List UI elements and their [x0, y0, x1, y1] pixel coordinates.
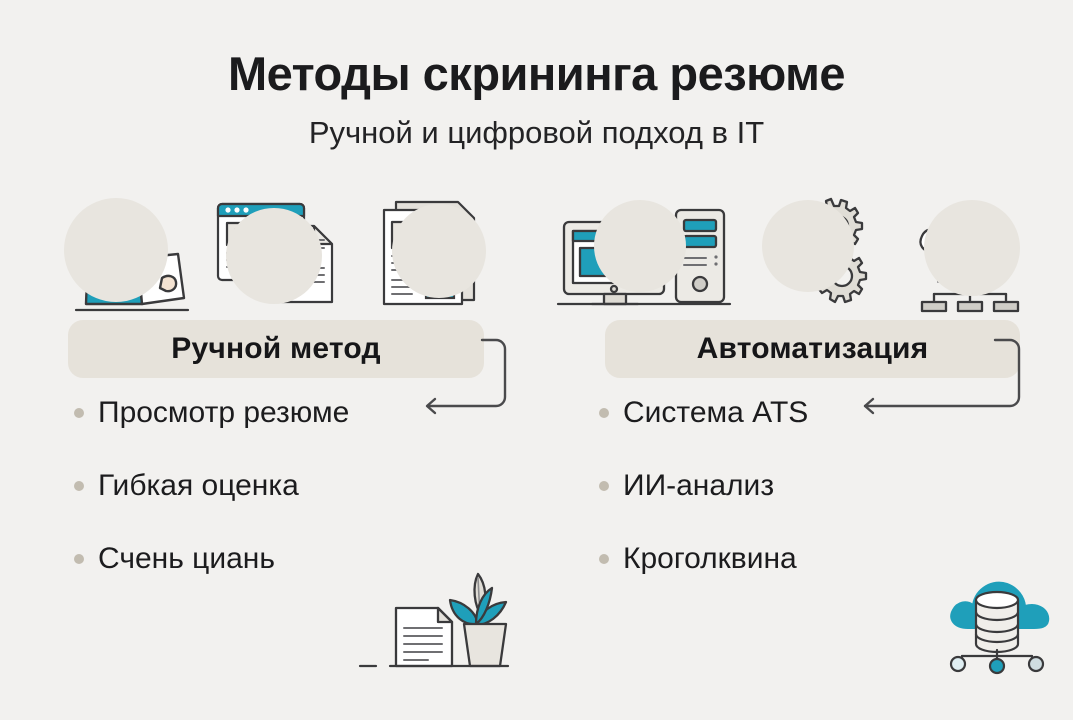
- list-item-label: Счень циань: [98, 542, 275, 576]
- list-item[interactable]: Гибкая оценка: [74, 469, 299, 503]
- decorative-blob: [924, 200, 1020, 296]
- list-item-label: Просмотр резюме: [98, 396, 349, 430]
- cloud-database-network-icon: [908, 194, 1038, 312]
- desktop-computer-tower-icon: [556, 196, 732, 312]
- cloud-database-filled-icon: [944, 572, 1054, 674]
- page-subtitle: Ручной и цифровой подход в IT: [0, 115, 1073, 151]
- bullet-dot-icon: [74, 408, 84, 418]
- infographic-canvas: Методы скрининга резюме Ручной и цифрово…: [0, 0, 1073, 720]
- list-item[interactable]: Система ATS: [599, 396, 808, 430]
- recruiter-reviewing-resume-icon: [62, 192, 192, 312]
- decorative-blob: [226, 208, 322, 304]
- manual-flow-arrow-icon: [418, 332, 538, 428]
- list-item-label: Гибкая оценка: [98, 469, 299, 503]
- bullet-dot-icon: [599, 408, 609, 418]
- automation-flow-arrow-icon: [855, 332, 1030, 428]
- list-item[interactable]: Счень циань: [74, 542, 275, 576]
- gears-icon: [762, 196, 872, 308]
- decorative-blob: [64, 198, 168, 302]
- bullet-dot-icon: [599, 554, 609, 564]
- list-item-label: ИИ-анализ: [623, 469, 774, 503]
- bullet-dot-icon: [74, 481, 84, 491]
- document-with-plant-icon: [356, 568, 536, 674]
- list-item-label: Кроголквина: [623, 542, 797, 576]
- bullet-dot-icon: [74, 554, 84, 564]
- resume-stack-checkmark-icon: [374, 190, 492, 312]
- page-title: Методы скрининга резюме: [0, 46, 1073, 101]
- section-header-manual-label: Ручной метод: [171, 332, 381, 366]
- decorative-blob: [392, 204, 486, 298]
- browser-profile-document-icon: [212, 196, 344, 310]
- bullet-dot-icon: [599, 481, 609, 491]
- decorative-blob: [594, 200, 686, 292]
- list-item-label: Система ATS: [623, 396, 808, 430]
- list-item[interactable]: Просмотр резюме: [74, 396, 349, 430]
- list-item[interactable]: ИИ-анализ: [599, 469, 774, 503]
- list-item[interactable]: Кроголквина: [599, 542, 797, 576]
- decorative-blob: [762, 200, 854, 292]
